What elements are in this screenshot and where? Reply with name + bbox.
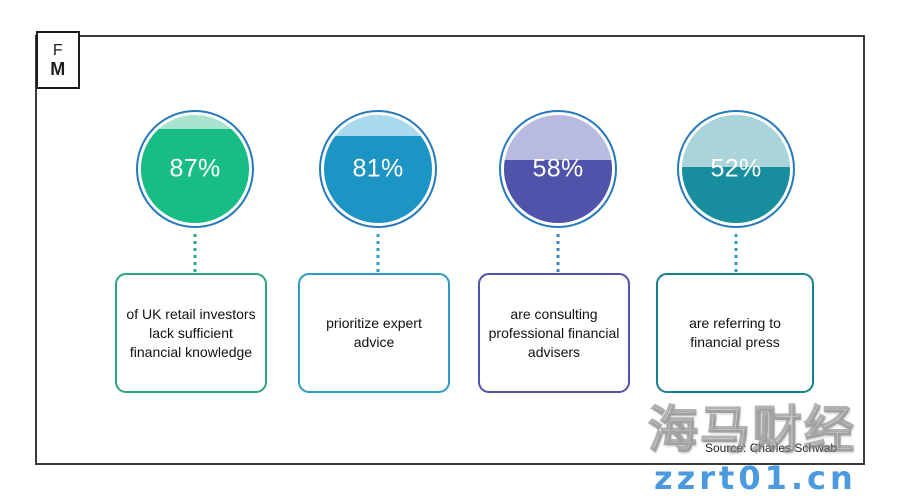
gauge-2-value: 81% (319, 157, 437, 182)
gauge-1-value: 87% (136, 157, 254, 182)
gauge-4: 52% (677, 110, 795, 228)
connector-2 (377, 234, 380, 272)
gauge-1: 87% (136, 110, 254, 228)
stat-column-4: 52% are referring to financial press (656, 110, 816, 400)
logo-letter-f: F (53, 42, 63, 59)
stat-card-1: of UK retail investors lack sufficient f… (115, 273, 267, 393)
stat-card-3: are consulting professional financial ad… (478, 273, 630, 393)
connector-4 (735, 234, 738, 272)
stat-card-1-text: of UK retail investors lack sufficient f… (123, 305, 259, 362)
stat-card-4: are referring to financial press (656, 273, 814, 393)
stat-card-4-text: are referring to financial press (664, 314, 806, 352)
gauge-2: 81% (319, 110, 437, 228)
fm-logo: F M (36, 31, 80, 89)
stat-column-3: 58% are consulting professional financia… (478, 110, 638, 400)
source-attribution: Source: Charles Schwab (705, 441, 837, 455)
stat-card-2-text: prioritize expert advice (306, 314, 442, 352)
watermark-url-text: zzrt01.cn (654, 460, 857, 496)
stat-column-2: 81% prioritize expert advice (298, 110, 458, 400)
infographic-root: F M 87% of UK retail investors lack suff… (0, 0, 900, 499)
connector-3 (557, 234, 560, 272)
logo-letter-m: M (50, 59, 66, 79)
stats-row: 87% of UK retail investors lack sufficie… (100, 110, 840, 400)
stat-card-3-text: are consulting professional financial ad… (486, 305, 622, 362)
gauge-4-value: 52% (677, 157, 795, 182)
stat-column-1: 87% of UK retail investors lack sufficie… (115, 110, 275, 400)
gauge-3-value: 58% (499, 157, 617, 182)
stat-card-2: prioritize expert advice (298, 273, 450, 393)
gauge-3: 58% (499, 110, 617, 228)
connector-1 (194, 234, 197, 272)
